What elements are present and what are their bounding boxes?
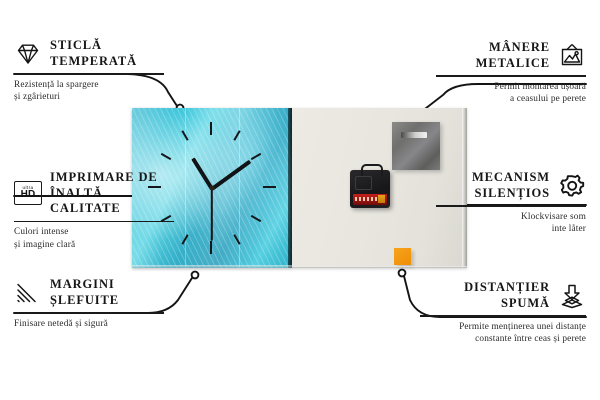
feature-title: DISTANȚIER SPUMĂ xyxy=(464,280,550,311)
feature-subtitle: Culori intense și imagine clară xyxy=(14,226,174,251)
feature-margini-slefuite: MARGINI ȘLEFUITE Finisare netedă și sigu… xyxy=(14,277,164,330)
foam-spacer xyxy=(394,248,411,265)
battery-plus-terminal xyxy=(378,195,385,203)
hanger-loop xyxy=(361,164,383,176)
feature-title: STICLĂ TEMPERATĂ xyxy=(50,38,137,69)
connector-dot-margini xyxy=(192,272,199,279)
feature-rule xyxy=(14,73,164,75)
glass-edge-bottom xyxy=(132,265,292,268)
feature-rule xyxy=(420,315,586,317)
battery xyxy=(353,194,387,205)
feature-title: IMPRIMARE DE ÎNALTĂ CALITATE xyxy=(50,170,174,217)
second-hand xyxy=(211,189,213,241)
metal-hanger-plate xyxy=(392,122,440,170)
connector-dot-distantier xyxy=(399,270,406,277)
diamond-icon xyxy=(14,42,42,66)
hour-marker xyxy=(181,130,188,141)
hour-marker xyxy=(161,153,172,160)
feature-rule xyxy=(436,75,586,77)
feature-subtitle: Finisare netedă și sigură xyxy=(14,318,164,330)
quartz-movement xyxy=(350,170,390,208)
battery-label xyxy=(355,197,379,201)
feature-title: MÂNERE METALICE xyxy=(476,40,550,71)
feature-subtitle: Klockvisare som inte låter xyxy=(436,211,586,236)
hour-marker xyxy=(251,153,262,160)
feature-title: MECANISM SILENȚIOS xyxy=(472,170,550,201)
feature-manere-metalice: MÂNERE METALICE Permit montarea ușoară a… xyxy=(436,40,586,105)
minute-hand xyxy=(211,160,251,191)
hour-marker xyxy=(181,234,188,245)
hour-marker xyxy=(233,234,240,245)
wall-frame-hanger-icon xyxy=(558,43,586,68)
feature-imprimare-inalta-calitate: ultra HD IMPRIMARE DE ÎNALTĂ CALITATE Cu… xyxy=(14,170,174,251)
back-edge-bottom xyxy=(292,266,467,268)
feature-subtitle: Rezistență la spargere și zgârieturi xyxy=(14,79,164,104)
movement-dial xyxy=(355,176,372,190)
ultra-hd-icon: ultra HD xyxy=(14,181,42,205)
infographic-canvas: STICLĂ TEMPERATĂ Rezistență la spargere … xyxy=(0,0,600,400)
feature-rule xyxy=(14,221,174,223)
hour-marker xyxy=(263,186,276,188)
feature-subtitle: Permite menținerea unei distanțe constan… xyxy=(420,321,586,346)
clock-hub xyxy=(210,186,215,191)
feature-rule xyxy=(14,312,164,314)
hour-marker xyxy=(210,241,212,254)
feature-rule xyxy=(436,205,586,207)
feature-mecanism-silentios: MECANISM SILENȚIOS Klockvisare som inte … xyxy=(436,170,586,235)
gear-icon xyxy=(558,173,586,199)
hour-marker xyxy=(210,122,212,135)
down-arrow-stack-icon xyxy=(558,283,586,309)
feature-sticla-temperata: STICLĂ TEMPERATĂ Rezistență la spargere … xyxy=(14,38,164,103)
feature-distantier-spuma: DISTANȚIER SPUMĂ Permite menținerea unei… xyxy=(420,280,586,345)
polished-edges-icon xyxy=(14,281,42,305)
hour-marker xyxy=(233,130,240,141)
hour-marker xyxy=(251,215,262,222)
hanger-slot xyxy=(401,132,427,138)
feature-title: MARGINI ȘLEFUITE xyxy=(50,277,119,308)
feature-subtitle: Permit montarea ușoară a ceasului pe per… xyxy=(436,81,586,106)
